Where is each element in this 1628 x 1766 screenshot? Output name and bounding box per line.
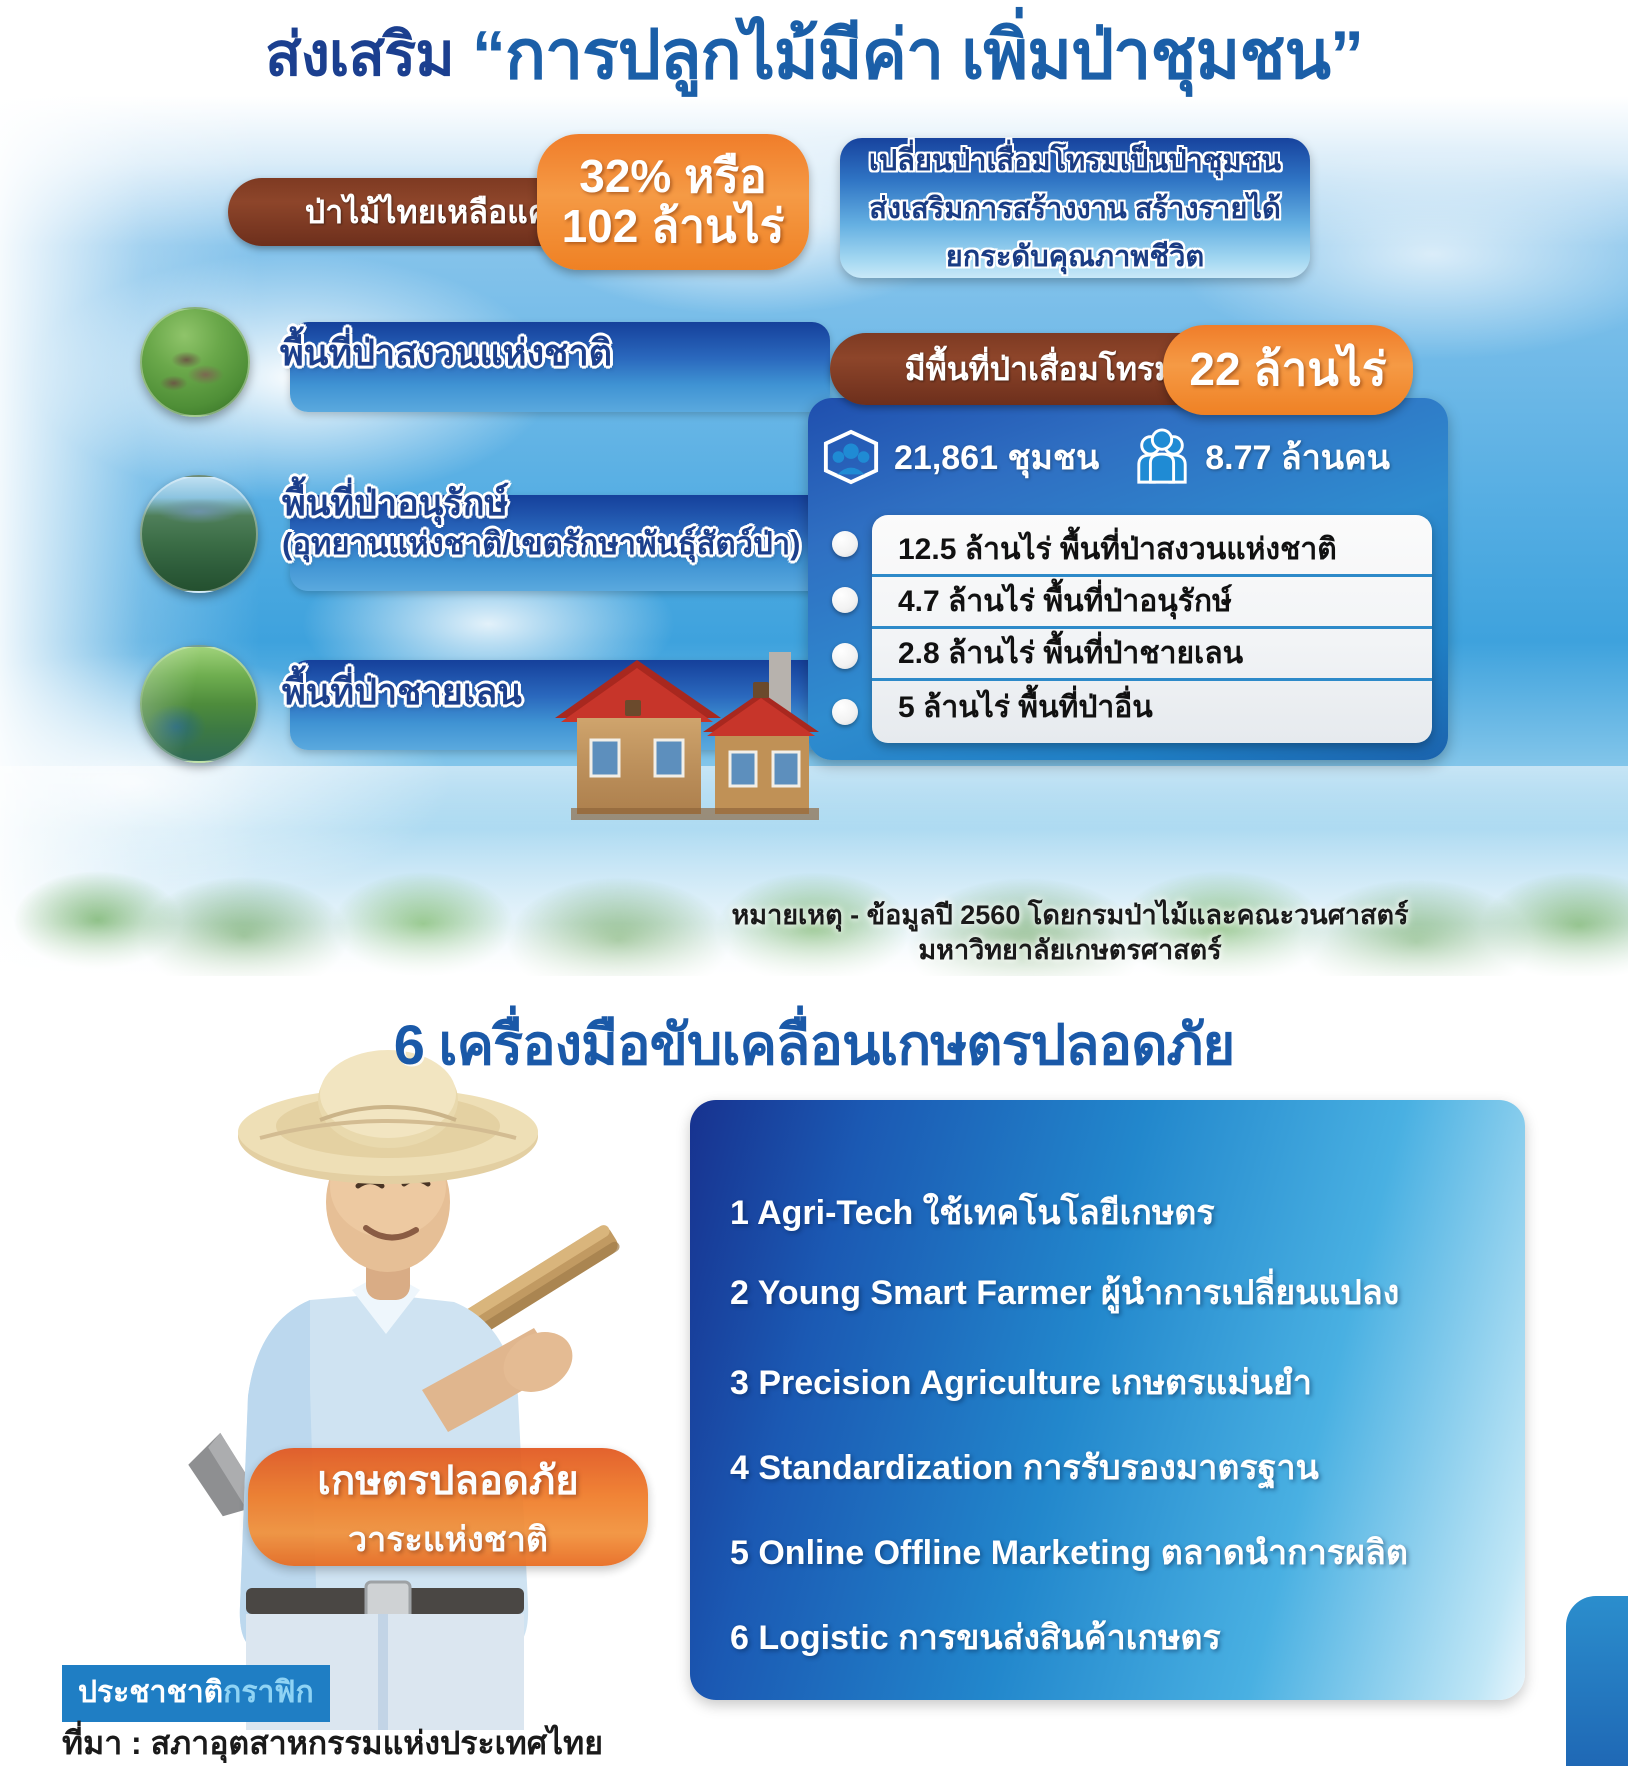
tool-item-3: 3 Precision Agriculture เกษตรแม่นยำ [730,1355,1312,1409]
category-photo-1 [140,307,250,417]
remaining-forest-value-pill: 32% หรือ 102 ล้านไร่ [537,134,809,270]
breakdown-bullet-2 [832,587,858,613]
degraded-forest-label: มีพื้นที่ป่าเสื่อมโทรม [905,344,1176,395]
infographic-page: ส่งเสริม “การปลูกไม้มีค่า เพิ่มป่าชุมชน”… [0,0,1628,1766]
category-label-1: พื้นที่ป่าสงวนแห่งชาติ [280,333,612,373]
category-label-2: พื้นที่ป่าอนุรักษ์ [282,483,508,523]
breakdown-bullet-1 [832,531,858,557]
farmer-badge: เกษตรปลอดภัย วาระแห่งชาติ [248,1448,648,1566]
house-illustration [525,640,855,830]
promo-line-2: ส่งเสริมการสร้างงาน สร้างรายได้ [869,185,1281,231]
community-count: 21,861 ชุมชน [894,430,1099,484]
tool-item-6: 6 Logistic การขนส่งสินค้าเกษตร [730,1610,1221,1664]
breakdown-row: 5 ล้านไร่ พื้นที่ป่าอื่น [872,681,1432,733]
breakdown-row: 2.8 ล้านไร่ พื้นที่ป่าชายเลน [872,629,1432,681]
breakdown-row: 12.5 ล้านไร่ พื้นที่ป่าสงวนแห่งชาติ [872,525,1432,577]
degraded-forest-value-pill: 22 ล้านไร่ [1163,325,1413,415]
remaining-forest-value-line1: 32% หรือ [579,152,767,202]
degraded-forest-value: 22 ล้านไร่ [1189,345,1386,395]
forest-breakdown-list: 12.5 ล้านไร่ พื้นที่ป่าสงวนแห่งชาติ 4.7 … [872,515,1432,743]
category-photo-2 [140,475,258,593]
remaining-forest-label: ป่าไม้ไทยเหลือแค่นี้ [305,187,571,238]
footnote: หมายเหตุ - ข้อมูลปี 2560 โดยกรมป่าไม้และ… [620,898,1520,967]
credit-tag: ประชาชาติกราฟิก [62,1665,330,1722]
farmer-badge-line-2: วาระแห่งชาติ [348,1512,548,1566]
promo-box: เปลี่ยนป่าเสื่อมโทรมเป็นป่าชุมชน ส่งเสริ… [840,138,1310,278]
tools-section-title: 6 เครื่องมือขับเคลื่อนเกษตรปลอดภัย [0,1000,1628,1089]
footnote-line-2: มหาวิทยาลัยเกษตรศาสตร์ [620,933,1520,968]
tool-item-4: 4 Standardization การรับรองมาตรฐาน [730,1440,1319,1494]
title-quoted: “การปลูกไม้มีค่า เพิ่มป่าชุมชน” [472,0,1363,108]
credit-tag-main: ประชาชาติ [78,1676,223,1709]
tool-item-1: 1 Agri-Tech ใช้เทคโนโลยีเกษตร [730,1185,1215,1239]
tool-item-2: 2 Young Smart Farmer ผู้นำการเปลี่ยนแปลง [730,1265,1399,1319]
footnote-line-1: หมายเหตุ - ข้อมูลปี 2560 โดยกรมป่าไม้และ… [620,898,1520,933]
people-group-icon [1133,428,1191,486]
category-sublabel-2: (อุทยานแห่งชาติ/เขตรักษาพันธุ์สัตว์ป่า) [282,527,800,562]
breakdown-bullet-4 [832,699,858,725]
breakdown-row: 4.7 ล้านไร่ พื้นที่ป่าอนุรักษ์ [872,577,1432,629]
credit-tag-accent: กราฟิก [223,1676,314,1709]
source-line: ที่มา : สภาอุตสาหกรรมแห่งประเทศไทย [62,1718,603,1766]
main-title: ส่งเสริม “การปลูกไม้มีค่า เพิ่มป่าชุมชน” [0,6,1628,102]
tool-item-5: 5 Online Offline Marketing ตลาดนำการผลิต [730,1525,1408,1579]
category-label-3: พื้นที่ป่าชายเลน [282,672,522,712]
promo-line-1: เปลี่ยนป่าเสื่อมโทรมเป็นป่าชุมชน [869,137,1281,183]
breakdown-bullet-3 [832,643,858,669]
community-stats-row: 21,861 ชุมชน 8.77 ล้านคน [822,428,1390,486]
bottom-right-accent [1566,1596,1628,1766]
community-house-icon [822,428,880,486]
farmer-with-hoe-photo [160,990,680,1730]
title-lead: ส่งเสริม [265,7,454,102]
farmer-badge-line-1: เกษตรปลอดภัย [317,1448,578,1512]
remaining-forest-value-line2: 102 ล้านไร่ [562,202,785,252]
promo-line-3: ยกระดับคุณภาพชีวิต [946,233,1205,279]
category-photo-3 [140,645,258,763]
people-count: 8.77 ล้านคน [1205,430,1390,484]
